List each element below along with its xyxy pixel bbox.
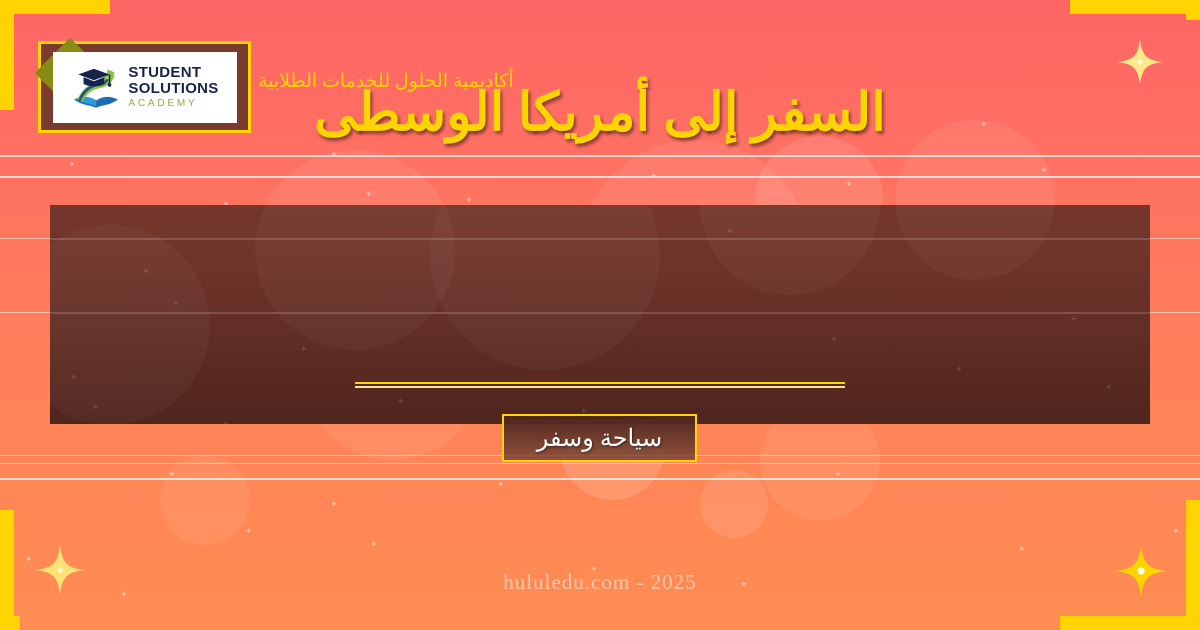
panel-hline xyxy=(50,238,1150,240)
sparkle-icon: ✦ xyxy=(25,555,33,564)
slide-title: السفر إلى أمريكا الوسطى xyxy=(0,84,1200,142)
sparkle-icon: ✦ xyxy=(497,480,505,489)
sparkle-icon: ✦ xyxy=(1070,315,1078,324)
sparkle-icon: ✦ xyxy=(168,470,176,479)
bokeh-circle xyxy=(700,470,768,538)
sparkle-icon: ✦ xyxy=(397,397,405,406)
sparkle-icon: ✦ xyxy=(1018,545,1026,554)
panel-bokeh-circle xyxy=(430,205,660,370)
sparkle-icon: ✦ xyxy=(845,180,853,189)
sparkle-icon: ✦ xyxy=(1172,527,1180,536)
sparkle-icon: ✦ xyxy=(1105,383,1113,392)
sparkle-icon: ✦ xyxy=(830,335,838,344)
sparkle-icon: ✦ xyxy=(222,420,230,424)
decor-hline xyxy=(0,155,1200,157)
sparkle-icon: ✦ xyxy=(726,227,734,236)
sparkle-icon: ✦ xyxy=(300,345,308,354)
subtitle-label: سياحة وسفر xyxy=(537,424,662,453)
sparkle-icon: ✦ xyxy=(92,403,100,412)
sparkle-icon: ✦ xyxy=(142,267,150,276)
panel-bokeh-circle xyxy=(255,205,455,350)
footer-credit: hululedu.com - 2025 xyxy=(0,570,1200,595)
title-panel: ✦ ✦ ✦ ✦ ✦ ✦ ✦ ✦ ✦ ✦ ✦ ✦ ✦ xyxy=(50,205,1150,424)
panel-hline xyxy=(50,312,1150,314)
sparkle-icon: ✦ xyxy=(955,365,963,374)
sparkle-icon: ✦ xyxy=(370,540,378,549)
panel-bokeh-circle xyxy=(895,205,1055,280)
bokeh-circle xyxy=(160,455,250,545)
presentation-slide: ✦ ✦ ✦ ✦ ✦ ✦ ✦ ✦ ✦ ✦ ✦ ✦ ✦ ✦ ✦ ✦ ✦ ✦ ✦ ✦ … xyxy=(0,0,1200,630)
sparkle-icon: ✦ xyxy=(834,470,842,479)
sparkle-icon: ✦ xyxy=(465,196,473,205)
corner-bracket-bottom-right xyxy=(1060,500,1200,630)
sparkle-icon: ✦ xyxy=(650,172,658,181)
sparkle-icon: ✦ xyxy=(330,150,338,159)
star-top-right-icon xyxy=(1117,39,1163,85)
sparkle-icon: ✦ xyxy=(1040,166,1048,175)
panel-bokeh-circle xyxy=(700,205,880,295)
decor-hline xyxy=(0,463,1200,464)
decor-hline xyxy=(0,176,1200,178)
sparkle-icon: ✦ xyxy=(70,373,78,382)
decor-hline xyxy=(0,478,1200,480)
subtitle-badge: سياحة وسفر xyxy=(502,414,697,462)
sparkle-icon: ✦ xyxy=(172,299,180,308)
sparkle-icon: ✦ xyxy=(68,160,76,169)
sparkle-icon: ✦ xyxy=(330,500,338,509)
corner-bracket-top-right xyxy=(1070,0,1200,20)
sparkle-icon: ✦ xyxy=(245,527,253,536)
panel-bokeh-circle xyxy=(50,225,210,424)
logo-word-student: STUDENT xyxy=(128,65,218,81)
sparkle-icon: ✦ xyxy=(365,190,373,199)
